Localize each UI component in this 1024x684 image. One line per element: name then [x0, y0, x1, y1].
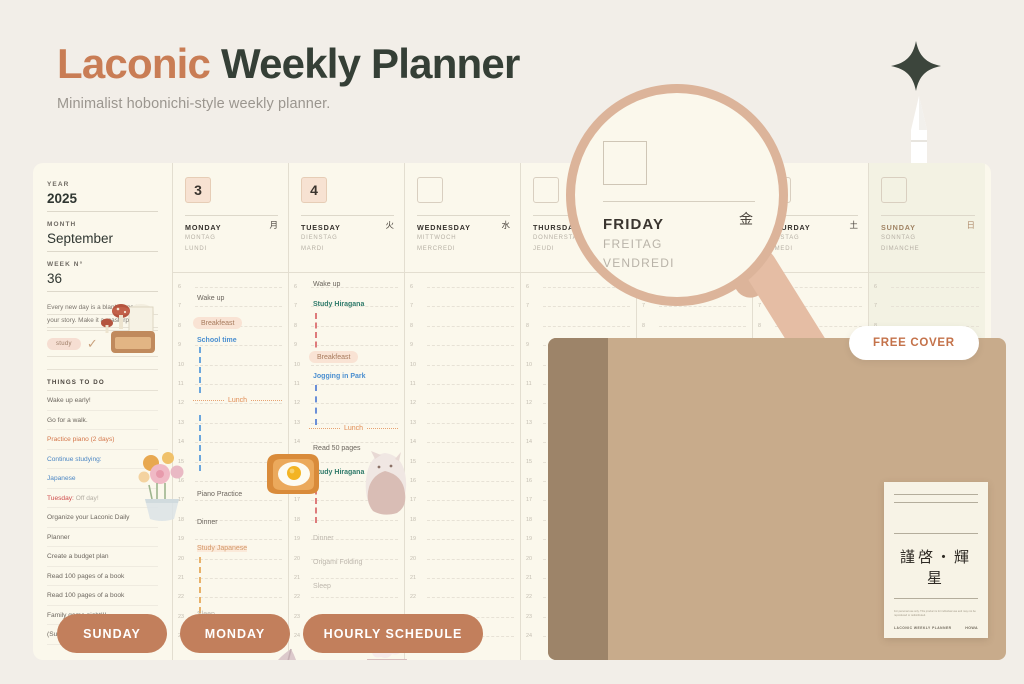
- hour-label: 15: [294, 459, 300, 465]
- todo-item-text: Organize your Laconic Daily: [47, 514, 129, 521]
- schedule-event[interactable]: Dinner: [313, 535, 334, 542]
- notebook-cover[interactable]: 謹啓・輝星 For personal use only. This produc…: [884, 482, 988, 638]
- day-header: SUNDAYSONNTAGDIMANCHE日: [869, 163, 985, 273]
- hour-label: 9: [178, 342, 181, 348]
- lunch-rule-left: [193, 400, 224, 401]
- schedule-event[interactable]: Piano Practice: [197, 491, 242, 498]
- hour-label: 15: [526, 459, 532, 465]
- hour-label: 8: [526, 323, 529, 329]
- hour-gridline: [311, 423, 398, 424]
- magnifier-lens: FRIDAY FREITAG VENDREDI 金: [566, 84, 788, 306]
- schedule-event[interactable]: Origami Folding: [313, 559, 362, 566]
- magnified-friday-content: FRIDAY FREITAG VENDREDI 金: [603, 141, 755, 271]
- hour-label: 20: [294, 556, 300, 562]
- day-name-de: DIENSTAG: [301, 234, 394, 243]
- day-kanji: 月: [269, 219, 278, 231]
- lunch-label: Lunch: [228, 397, 247, 404]
- activity-duration-bar: [199, 557, 201, 613]
- schedule-event[interactable]: Breakfeast: [193, 317, 242, 329]
- day-header: 3MONDAYMONTAGLUNDI月: [173, 163, 288, 273]
- hour-label: 14: [526, 439, 532, 445]
- hour-label: 8: [642, 323, 645, 329]
- monday-button[interactable]: MONDAY: [180, 614, 290, 653]
- day-kanji: 日: [966, 219, 975, 231]
- hour-label: 7: [526, 303, 529, 309]
- hour-label: 20: [526, 556, 532, 562]
- day-date-box[interactable]: [417, 177, 443, 203]
- hour-gridline: [311, 597, 398, 598]
- day-name-de: MONTAG: [185, 234, 278, 243]
- lunch-rule-right: [367, 428, 398, 429]
- hour-gridline: [195, 306, 282, 307]
- schedule-event[interactable]: Read 50 pages: [313, 445, 360, 452]
- lunch-divider: Lunch: [309, 425, 398, 432]
- day-name-fr: DIMANCHE: [881, 245, 975, 254]
- hour-label: 14: [294, 439, 300, 445]
- hour-label: 10: [294, 362, 300, 368]
- hour-label: 10: [178, 362, 184, 368]
- quote-blank-row: [47, 357, 158, 370]
- planner-sidebar: YEAR 2025 MONTH September WEEK N° 36 Eve…: [33, 163, 173, 660]
- todo-item-text: Read 100 pages of a book: [47, 573, 124, 580]
- hour-label: 22: [410, 594, 416, 600]
- lunch-divider: Lunch: [193, 397, 282, 404]
- sparkle-icon: [890, 40, 942, 92]
- magnified-day-name: FRIDAY: [603, 216, 755, 233]
- hour-label: 10: [526, 362, 532, 368]
- todo-item-text: Continue studying:: [47, 456, 102, 463]
- hour-gridline: [195, 578, 282, 579]
- hour-label: 17: [410, 497, 416, 503]
- hour-label: 17: [526, 497, 532, 503]
- todo-item[interactable]: Practice piano (2 days): [47, 430, 158, 450]
- day-date-box[interactable]: 3: [185, 177, 211, 203]
- day-column-wednesday[interactable]: WEDNESDAYMITTWOCHMERCREDI水67891011121314…: [405, 163, 521, 660]
- cover-line-1: [894, 494, 978, 495]
- hour-label: 23: [178, 614, 184, 620]
- page-title-rest: Weekly Planner: [221, 40, 520, 87]
- hour-label: 21: [410, 575, 416, 581]
- hour-gridline: [427, 345, 514, 346]
- schedule-event[interactable]: Dinner: [197, 519, 218, 526]
- hour-gridline: [195, 384, 282, 385]
- study-tag[interactable]: study: [47, 338, 81, 350]
- hour-gridline: [195, 559, 282, 560]
- hour-gridline: [195, 462, 282, 463]
- hour-label: 13: [178, 420, 184, 426]
- hour-gridline: [427, 442, 514, 443]
- hour-label: 13: [526, 420, 532, 426]
- hour-label: 12: [294, 400, 300, 406]
- hour-label: 6: [178, 284, 181, 290]
- hour-label: 22: [294, 594, 300, 600]
- hour-label: 14: [410, 439, 416, 445]
- week-field: WEEK N° 36: [47, 261, 158, 292]
- hour-label: 6: [410, 284, 413, 290]
- day-name-en: WEDNESDAY: [417, 223, 510, 232]
- day-timeline[interactable]: 6789101112131415161718192021222324: [405, 273, 520, 660]
- hour-gridline: [427, 481, 514, 482]
- hour-gridline: [891, 287, 979, 288]
- hour-gridline: [427, 384, 514, 385]
- hour-gridline: [195, 423, 282, 424]
- year-value[interactable]: 2025: [47, 191, 158, 212]
- hour-label: 23: [294, 614, 300, 620]
- hour-label: 11: [294, 381, 300, 387]
- hour-label: 13: [294, 420, 300, 426]
- hour-gridline: [195, 539, 282, 540]
- hour-label: 24: [526, 633, 532, 639]
- year-field: YEAR 2025: [47, 181, 158, 212]
- hour-gridline: [195, 500, 282, 501]
- hour-label: 6: [874, 284, 877, 290]
- magnified-day-kanji: 金: [739, 209, 753, 229]
- day-name-block: WEDNESDAYMITTWOCHMERCREDI: [417, 215, 510, 255]
- schedule-event[interactable]: Jogging in Park: [313, 373, 366, 380]
- quote-block: Every new day is a blank page in your st…: [47, 302, 158, 331]
- things-to-do-heading: THINGS TO DO: [47, 379, 158, 391]
- day-kanji: 土: [849, 219, 858, 231]
- hour-gridline: [195, 481, 282, 482]
- todo-item[interactable]: Go for a walk.: [47, 411, 158, 431]
- hour-label: 16: [526, 478, 532, 484]
- day-column-monday[interactable]: 3MONDAYMONTAGLUNDI月678910111213141516171…: [173, 163, 289, 660]
- month-field: MONTH September: [47, 221, 158, 252]
- hour-label: 8: [178, 323, 181, 329]
- schedule-event[interactable]: Study Hiragana: [313, 469, 364, 476]
- hour-label: 20: [178, 556, 184, 562]
- magnified-day-de: FREITAG: [603, 236, 755, 252]
- day-name-de: SONNTAG: [881, 234, 975, 243]
- schedule-event[interactable]: Wake up: [197, 295, 224, 302]
- day-timeline[interactable]: 6789101112131415161718192021222324Wake u…: [173, 273, 288, 660]
- todo-item[interactable]: Continue studying:: [47, 450, 158, 470]
- hour-gridline: [427, 365, 514, 366]
- hour-gridline: [311, 578, 398, 579]
- hour-gridline: [427, 520, 514, 521]
- hour-label: 6: [294, 284, 297, 290]
- hour-label: 9: [410, 342, 413, 348]
- hour-gridline: [311, 384, 398, 385]
- day-name-block: SUNDAYSONNTAGDIMANCHE: [881, 215, 975, 255]
- hour-label: 15: [410, 459, 416, 465]
- day-name-en: MONDAY: [185, 223, 278, 232]
- hour-label: 11: [526, 381, 532, 387]
- lunch-rule-right: [251, 400, 282, 401]
- hour-gridline: [195, 345, 282, 346]
- day-date-box[interactable]: 4: [301, 177, 327, 203]
- hour-label: 6: [526, 284, 529, 290]
- hour-label: 15: [178, 459, 184, 465]
- day-name-fr: MERCREDI: [417, 245, 510, 254]
- magnified-divider: [603, 201, 755, 202]
- hour-gridline: [543, 326, 630, 327]
- hour-label: 18: [410, 517, 416, 523]
- cover-line-2: [894, 502, 978, 503]
- hour-gridline: [427, 578, 514, 579]
- page-title-accent: Laconic: [57, 40, 210, 87]
- activity-duration-bar: [315, 479, 317, 523]
- hour-gridline: [311, 326, 398, 327]
- hour-gridline: [659, 306, 746, 307]
- day-header: 4TUESDAYDIENSTAGMARDI火: [289, 163, 404, 273]
- hour-label: 13: [410, 420, 416, 426]
- quote-line-1: Every new day is a blank page in: [47, 302, 158, 315]
- hour-label: 7: [178, 303, 181, 309]
- todo-item-text: Read 100 pages of a book: [47, 592, 124, 599]
- hour-gridline: [311, 462, 398, 463]
- hour-label: 12: [410, 400, 416, 406]
- hour-label: 20: [410, 556, 416, 562]
- magnifying-glass-icon[interactable]: FRIDAY FREITAG VENDREDI 金: [566, 84, 788, 306]
- week-value[interactable]: 36: [47, 271, 158, 292]
- day-header: WEDNESDAYMITTWOCHMERCREDI水: [405, 163, 520, 273]
- day-date-box[interactable]: [533, 177, 559, 203]
- magnified-date-box[interactable]: [603, 141, 647, 185]
- day-name-fr: MARDI: [301, 245, 394, 254]
- hour-gridline: [659, 326, 746, 327]
- hour-gridline: [311, 403, 398, 404]
- hour-gridline: [195, 597, 282, 598]
- day-name-block: MONDAYMONTAGLUNDI: [185, 215, 278, 255]
- schedule-event[interactable]: Study Hiragana: [313, 301, 364, 308]
- hour-label: 16: [410, 478, 416, 484]
- hour-label: 18: [526, 517, 532, 523]
- hour-gridline: [311, 520, 398, 521]
- page-title: Laconic Weekly Planner: [57, 42, 520, 86]
- todo-item[interactable]: Japanese: [47, 469, 158, 489]
- hour-label: 7: [410, 303, 413, 309]
- day-name-de: MITTWOCH: [417, 234, 510, 243]
- cover-fine-print: For personal use only. This product is f…: [894, 610, 978, 618]
- hour-label: 16: [178, 478, 184, 484]
- hour-label: 21: [178, 575, 184, 581]
- schedule-event[interactable]: Study Japanese: [197, 545, 247, 552]
- month-label: MONTH: [47, 221, 158, 228]
- hour-label: 19: [294, 536, 300, 542]
- things-to-do-list: Wake up early!Go for a walk.Practice pia…: [47, 391, 158, 645]
- schedule-event[interactable]: Wake up: [313, 281, 340, 288]
- day-timeline[interactable]: 6789101112131415161718192021222324Wake u…: [289, 273, 404, 660]
- cover-maker: HOWA: [965, 626, 978, 630]
- todo-item-note: Off day!: [74, 495, 99, 502]
- hour-gridline: [427, 423, 514, 424]
- hour-label: 7: [874, 303, 877, 309]
- hour-gridline: [427, 597, 514, 598]
- hour-gridline: [311, 442, 398, 443]
- todo-item-text: Tuesday:: [47, 495, 74, 502]
- hour-label: 8: [758, 323, 761, 329]
- day-name-fr: LUNDI: [185, 245, 278, 254]
- todo-item-text: Planner: [47, 534, 70, 541]
- hour-gridline: [427, 326, 514, 327]
- hour-label: 19: [526, 536, 532, 542]
- activity-duration-bar: [315, 385, 317, 425]
- hour-gridline: [543, 306, 630, 307]
- todo-item[interactable]: Wake up early!: [47, 391, 158, 411]
- hour-gridline: [427, 287, 514, 288]
- hour-gridline: [427, 306, 514, 307]
- day-name-en: SUNDAY: [881, 223, 975, 232]
- todo-item[interactable]: Read 100 pages of a book: [47, 586, 158, 606]
- todo-item-text: Go for a walk.: [47, 417, 88, 424]
- day-date-box[interactable]: [881, 177, 907, 203]
- hour-gridline: [311, 365, 398, 366]
- hour-gridline: [427, 462, 514, 463]
- lunch-label: Lunch: [344, 425, 363, 432]
- year-label: YEAR: [47, 181, 158, 188]
- free-cover-badge[interactable]: FREE COVER: [849, 326, 979, 360]
- hour-label: 17: [178, 497, 184, 503]
- todo-item[interactable]: Planner: [47, 528, 158, 548]
- schedule-event[interactable]: School time: [197, 337, 237, 344]
- page-subtitle: Minimalist hobonichi-style weekly planne…: [57, 96, 520, 112]
- month-value[interactable]: September: [47, 231, 158, 252]
- hour-label: 9: [526, 342, 529, 348]
- hour-label: 24: [294, 633, 300, 639]
- hour-label: 12: [526, 400, 532, 406]
- hour-gridline: [891, 306, 979, 307]
- todo-item-text: Wake up early!: [47, 397, 91, 404]
- cover-brand: LACONIC WEEKLY PLANNER: [894, 626, 952, 630]
- day-kanji: 火: [385, 219, 394, 231]
- cover-line-4: [894, 598, 978, 599]
- hour-gridline: [195, 365, 282, 366]
- week-label: WEEK N°: [47, 261, 158, 268]
- hour-label: 16: [294, 478, 300, 484]
- todo-item[interactable]: Organize your Laconic Daily: [47, 508, 158, 528]
- magnified-day-fr: VENDREDI: [603, 255, 755, 271]
- hour-gridline: [427, 403, 514, 404]
- hour-label: 22: [178, 594, 184, 600]
- day-name-block: TUESDAYDIENSTAGMARDI: [301, 215, 394, 255]
- hour-label: 23: [526, 614, 532, 620]
- schedule-event[interactable]: Breakfeast: [309, 351, 358, 363]
- hour-label: 7: [294, 303, 297, 309]
- cover-line-3: [894, 533, 978, 534]
- hour-gridline: [195, 442, 282, 443]
- hour-label: 17: [294, 497, 300, 503]
- hour-gridline: [311, 481, 398, 482]
- hour-label: 8: [294, 323, 297, 329]
- hour-gridline: [427, 559, 514, 560]
- day-kanji: 水: [501, 219, 510, 231]
- hour-gridline: [427, 539, 514, 540]
- hour-label: 14: [178, 439, 184, 445]
- hourly-schedule-button[interactable]: HOURLY SCHEDULE: [303, 614, 483, 653]
- hour-label: 18: [294, 517, 300, 523]
- hour-label: 11: [178, 381, 184, 387]
- hour-label: 22: [526, 594, 532, 600]
- todo-item[interactable]: Read 100 pages of a book: [47, 567, 158, 587]
- hour-label: 11: [410, 381, 416, 387]
- activity-duration-bar: [199, 347, 201, 393]
- study-tag-row: study ✓: [47, 331, 158, 357]
- todo-item[interactable]: Create a budget plan: [47, 547, 158, 567]
- hour-label: 21: [526, 575, 532, 581]
- lunch-rule-left: [309, 428, 340, 429]
- hour-label: 19: [410, 536, 416, 542]
- checkmark-icon: ✓: [87, 336, 98, 352]
- quote-line-2: your story. Make it a masterpiece.: [47, 315, 158, 328]
- day-name-en: TUESDAY: [301, 223, 394, 232]
- hour-label: 19: [178, 536, 184, 542]
- day-column-tuesday[interactable]: 4TUESDAYDIENSTAGMARDI火678910111213141516…: [289, 163, 405, 660]
- sunday-button[interactable]: SUNDAY: [57, 614, 167, 653]
- hour-label: 8: [410, 323, 413, 329]
- schedule-event[interactable]: Sleep: [313, 583, 331, 590]
- page-header: Laconic Weekly Planner Minimalist hoboni…: [57, 42, 520, 112]
- hour-gridline: [195, 287, 282, 288]
- planner-box-spine: [548, 338, 608, 660]
- todo-item-text: Create a budget plan: [47, 553, 109, 560]
- todo-item-text: Japanese: [47, 475, 76, 482]
- hour-gridline: [311, 345, 398, 346]
- hour-label: 10: [410, 362, 416, 368]
- page-root: Laconic Weekly Planner Minimalist hoboni…: [0, 0, 1024, 684]
- todo-item[interactable]: Tuesday: Off day!: [47, 489, 158, 509]
- todo-item-text: Practice piano (2 days): [47, 436, 114, 443]
- activity-duration-bar: [199, 415, 201, 471]
- hour-gridline: [311, 500, 398, 501]
- hour-label: 12: [178, 400, 184, 406]
- hour-label: 18: [178, 517, 184, 523]
- cover-japanese-title: 謹啓・輝星: [894, 546, 978, 588]
- hour-gridline: [427, 500, 514, 501]
- hour-label: 9: [294, 342, 297, 348]
- hour-label: 21: [294, 575, 300, 581]
